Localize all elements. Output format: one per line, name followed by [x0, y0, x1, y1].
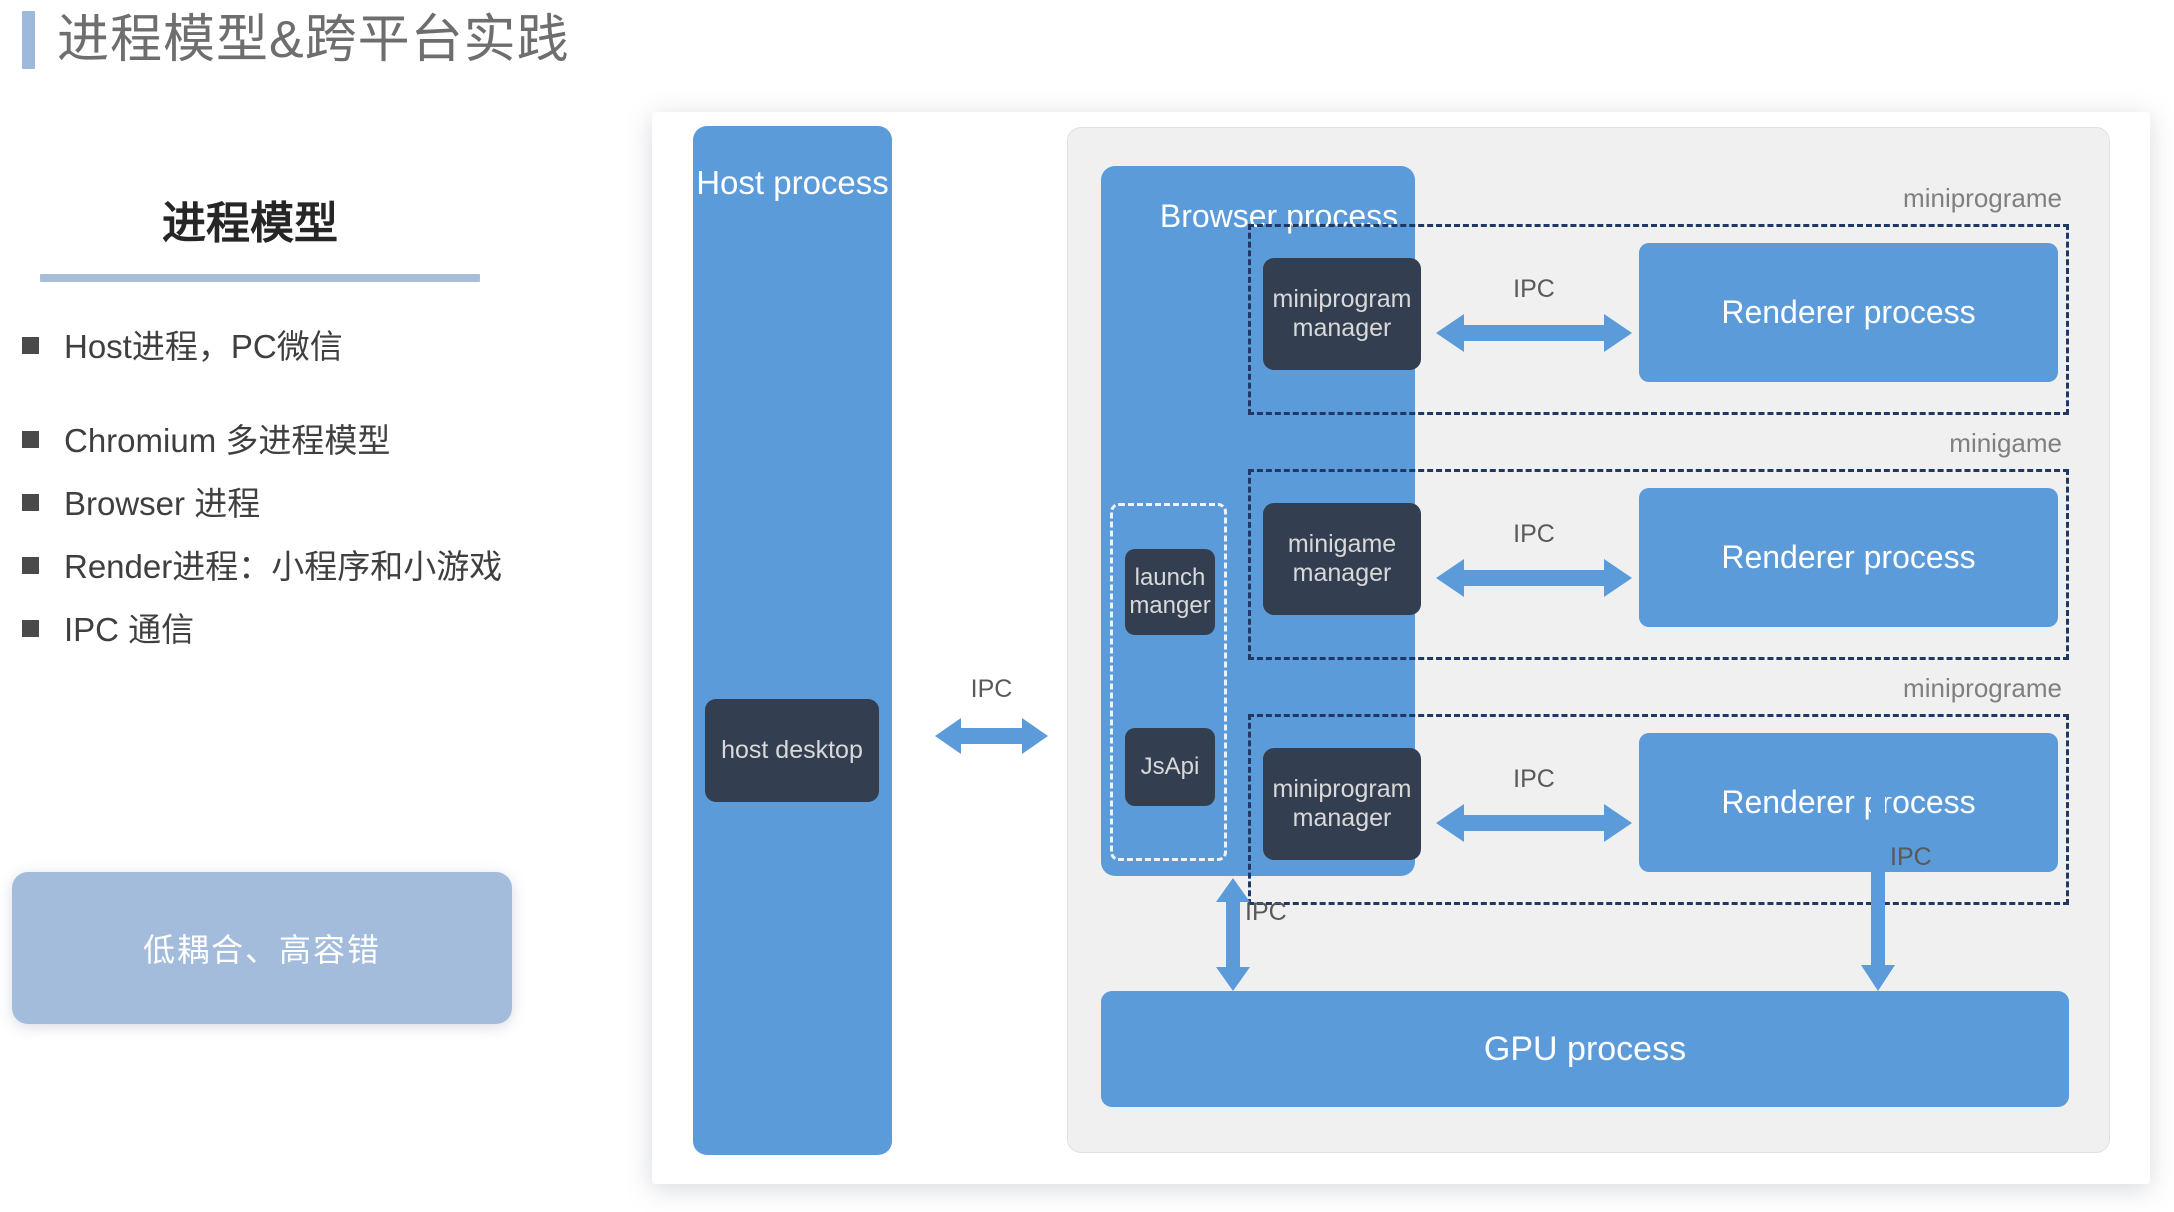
title-accent-bar [22, 11, 35, 69]
manager-label: miniprogrammanager [1273, 285, 1412, 344]
list-item-label: Host进程，PC微信 [64, 326, 343, 367]
bidirectional-arrow-icon [1213, 878, 1253, 991]
renderer-process-block: Renderer process [1639, 243, 2058, 382]
square-bullet-icon [22, 337, 39, 354]
renderer-group-label: miniprograme [1903, 183, 2062, 214]
architecture-diagram-card: Host process host desktop IPC Browser pr… [652, 112, 2150, 1184]
renderer-process-block: Renderer process [1639, 733, 2058, 872]
section-heading-underline [40, 274, 480, 282]
ipc-connector-manager-renderer: IPC [1436, 765, 1632, 845]
list-item-label: Render进程：小程序和小游戏 [64, 546, 502, 587]
list-item: Host进程，PC微信 [22, 326, 640, 367]
ipc-label: IPC [1436, 520, 1632, 549]
host-process-block: Host process host desktop [693, 126, 892, 1155]
ipc-connector-browser-gpu: IPC [1213, 878, 1303, 991]
slide-title-row: 进程模型&跨平台实践 [0, 0, 570, 80]
renderer-process-label: Renderer process [1721, 539, 1975, 576]
ipc-connector-manager-renderer: IPC [1436, 520, 1632, 600]
bullet-list: Host进程，PC微信 Chromium 多进程模型 Browser 进程 Re… [22, 326, 640, 650]
jsapi-label: JsApi [1141, 753, 1200, 781]
left-content-column: 进程模型 Host进程，PC微信 Chromium 多进程模型 Browser … [0, 200, 640, 673]
renderer-group: miniprograme miniprogrammanager IPC Rend… [1248, 224, 2069, 415]
miniprogram-manager-module: miniprogrammanager [1263, 748, 1421, 860]
manager-label: minigamemanager [1288, 530, 1396, 589]
list-item-label: IPC 通信 [64, 609, 194, 650]
host-process-label: Host process [693, 164, 892, 202]
square-bullet-icon [22, 494, 39, 511]
ipc-label: IPC [1890, 843, 1932, 872]
host-desktop-module: host desktop [705, 699, 879, 802]
bidirectional-arrow-icon [935, 714, 1048, 758]
renderer-process-block: Renderer process [1639, 488, 2058, 627]
browser-inner-module-group: launchmanger JsApi [1110, 503, 1227, 861]
gpu-process-label: GPU process [1484, 1030, 1686, 1069]
ipc-label: IPC [1245, 898, 1287, 927]
chromium-panel: Browser process launchmanger JsApi minip… [1067, 127, 2110, 1153]
page-title: 进程模型&跨平台实践 [57, 14, 570, 66]
list-item-label: Browser 进程 [64, 483, 260, 524]
callout-box: 低耦合、高容错 [12, 872, 512, 1024]
list-item: IPC 通信 [22, 609, 640, 650]
renderer-group-label: minigame [1949, 428, 2062, 459]
renderer-group: minigame minigamemanager IPC Renderer pr… [1248, 469, 2069, 660]
bidirectional-arrow-icon [1436, 556, 1632, 600]
section-heading: 进程模型 [30, 200, 470, 248]
ipc-connector-host-browser: IPC [935, 675, 1048, 775]
list-item: Chromium 多进程模型 [22, 420, 640, 461]
minigame-manager-module: minigamemanager [1263, 503, 1421, 615]
launch-manager-label: launchmanger [1129, 564, 1210, 620]
gpu-process-block: GPU process [1101, 991, 2069, 1107]
ipc-connector-manager-renderer: IPC [1436, 275, 1632, 355]
list-item-label: Chromium 多进程模型 [64, 420, 390, 461]
list-item: Render进程：小程序和小游戏 [22, 546, 640, 587]
square-bullet-icon [22, 557, 39, 574]
square-bullet-icon [22, 431, 39, 448]
miniprogram-manager-module: miniprogrammanager [1263, 258, 1421, 370]
bidirectional-arrow-icon [1858, 771, 1898, 991]
ipc-label: IPC [935, 675, 1048, 704]
renderer-group-label: miniprograme [1903, 673, 2062, 704]
ipc-label: IPC [1436, 765, 1632, 794]
ipc-connector-renderer-gpu: IPC [1858, 771, 1948, 991]
square-bullet-icon [22, 620, 39, 637]
jsapi-module: JsApi [1125, 728, 1215, 806]
bullet-group-2: Chromium 多进程模型 Browser 进程 Render进程：小程序和小… [22, 420, 640, 651]
renderer-process-label: Renderer process [1721, 294, 1975, 331]
manager-label: miniprogrammanager [1273, 775, 1412, 834]
host-desktop-label: host desktop [721, 736, 863, 765]
ipc-label: IPC [1436, 275, 1632, 304]
bidirectional-arrow-icon [1436, 801, 1632, 845]
callout-label: 低耦合、高容错 [143, 925, 381, 971]
list-item: Browser 进程 [22, 483, 640, 524]
bullet-group-1: Host进程，PC微信 [22, 326, 640, 367]
launch-manager-module: launchmanger [1125, 549, 1215, 635]
bidirectional-arrow-icon [1436, 311, 1632, 355]
